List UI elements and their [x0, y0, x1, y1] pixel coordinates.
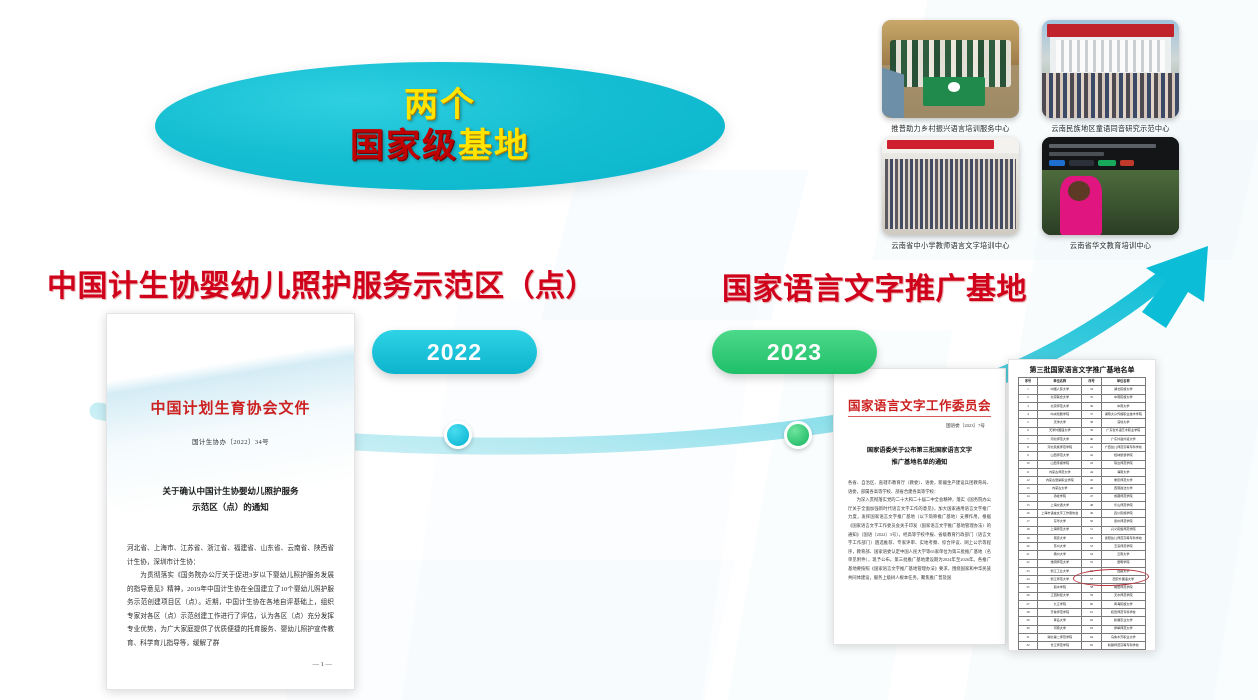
left-doc-code: 国计生协办〔2022〕34号: [107, 436, 354, 446]
table-cell-name: 山西师范大学: [1038, 452, 1082, 460]
section-heading-2: 国家语言文字推广基地: [722, 264, 1027, 308]
table-cell-name: 中央戏剧学院: [1038, 411, 1082, 419]
table-row: 1中国人民大学34湖北民族大学: [1019, 386, 1146, 394]
table-cell-index: 6: [1019, 427, 1038, 435]
table-row: 17东华大学50贵州师范学院: [1019, 518, 1146, 526]
year-badge-2022[interactable]: 2022: [372, 330, 537, 374]
table-cell-name: 青海民族大学: [1101, 600, 1145, 608]
table-cell-name: 伊犁师范大学: [1101, 625, 1145, 633]
table-cell-name: 乐山师范学院: [1101, 501, 1145, 509]
table-cell-index: 27: [1019, 600, 1038, 608]
table-cell-name: 内蒙古大学: [1038, 485, 1082, 493]
right-doc-addressee: 各省、自治区、直辖市教育厅（教委）、语委，新疆生产建设兵团教育局、语委，部属各高…: [848, 480, 991, 494]
photo-thumbnail-1[interactable]: [882, 20, 1019, 118]
photo-thumbnail-4[interactable]: [1042, 137, 1179, 235]
table-cell-name: 北京师范大学: [1038, 402, 1082, 410]
table-cell-name: 赤峰学院: [1038, 493, 1082, 501]
table-cell-name: 四川民族学院: [1101, 510, 1145, 518]
photo-thumbnail-3[interactable]: [882, 137, 1019, 235]
hero-title-line1: 两个: [404, 85, 476, 126]
name-list-table: 序号单位名称序号单位名称 1中国人民大学34湖北民族大学2北京联合大学35中南民…: [1018, 377, 1146, 651]
table-row: 3北京师范大学36中南大学: [1019, 402, 1146, 410]
table-cell-index: 15: [1019, 501, 1038, 509]
right-doc-subject-line1: 国家语委关于公布第三批国家语言文字: [867, 447, 972, 454]
table-cell-index: 62: [1082, 617, 1101, 625]
table-cell-name: 乌鲁木齐职业大学: [1101, 633, 1145, 641]
table-cell-name: 河北师范大学: [1038, 435, 1082, 443]
table-cell-index: 48: [1082, 501, 1101, 509]
table-cell-name: 南京大学: [1038, 534, 1082, 542]
table-cell-index: 20: [1019, 543, 1038, 551]
table-cell-index: 28: [1019, 609, 1038, 617]
table-cell-name: 苏州大学: [1038, 543, 1082, 551]
photo-caption-1: 推普助力乡村振兴语言培训服务中心: [882, 124, 1019, 134]
table-cell-index: 34: [1082, 386, 1101, 394]
document-image-left[interactable]: 中国计划生育协会文件 国计生协办〔2022〕34号 关于确认中国计生协婴幼儿照护…: [106, 313, 355, 690]
table-cell-name: 江西财经大学: [1038, 592, 1082, 600]
left-doc-page-number: — 1 —: [313, 661, 333, 668]
left-doc-subject: 关于确认中国计生协婴幼儿照护服务 示范区（点）的通知: [131, 484, 330, 515]
table-cell-index: 31: [1019, 633, 1038, 641]
table-cell-name: 深圳大学: [1101, 419, 1145, 427]
table-cell-index: 37: [1082, 411, 1101, 419]
name-list-image[interactable]: 第三批国家语言文字推广基地名单 序号单位名称序号单位名称 1中国人民大学34湖北…: [1008, 359, 1156, 651]
photo-caption-2: 云南民族地区童语同音研究示范中心: [1042, 124, 1179, 134]
photo-caption-3: 云南省中小学教师语言文字培训中心: [882, 241, 1019, 251]
table-row: 13内蒙古大学46西南政法大学: [1019, 485, 1146, 493]
table-cell-index: 7: [1019, 435, 1038, 443]
table-cell-index: 18: [1019, 526, 1038, 534]
hero-title-line2-red: 国家级: [350, 127, 458, 165]
left-doc-paragraph: 为贯彻落实《国务院办公厅关于促进3岁以下婴幼儿照护服务发展的指导意见》精神，20…: [127, 569, 334, 650]
table-cell-name: 湖北民族大学: [1101, 386, 1145, 394]
table-cell-index: 35: [1082, 394, 1101, 402]
table-cell-index: 43: [1082, 460, 1101, 468]
photo-card-3[interactable]: 云南省中小学教师语言文字培训中心: [882, 137, 1019, 251]
table-cell-name: 成都师范学院: [1101, 493, 1145, 501]
table-row: 32长江师范学院65新疆师范高等专科学校: [1019, 642, 1146, 650]
table-cell-name: 湖南大众传媒职业技术学院: [1101, 411, 1145, 419]
table-row: 26江西财经大学59天水师范学院: [1019, 592, 1146, 600]
right-doc-title: 国家语言文字工作委员会: [834, 395, 1005, 414]
table-row: 12内蒙古警察职业学院45重庆师范大学: [1019, 477, 1146, 485]
table-cell-index: 21: [1019, 551, 1038, 559]
table-cell-name: 西南政法大学: [1101, 485, 1145, 493]
table-cell-index: 36: [1082, 402, 1101, 410]
photo-card-2[interactable]: 云南民族地区童语同音研究示范中心: [1042, 20, 1179, 134]
table-cell-index: 33: [1019, 650, 1038, 651]
right-doc-code: 国语委〔2023〕7号: [946, 423, 985, 429]
table-row: 11内蒙古师范大学44海南大学: [1019, 468, 1146, 476]
table-row: 29青岛大学62新疆农业大学: [1019, 617, 1146, 625]
table-column-header-3: 单位名称: [1101, 378, 1145, 386]
table-cell-index: 54: [1082, 551, 1101, 559]
table-cell-index: 55: [1082, 559, 1101, 567]
table-row: 27九江学院60青海民族大学: [1019, 600, 1146, 608]
timeline-node-2023[interactable]: [784, 421, 812, 449]
table-cell-index: 17: [1019, 518, 1038, 526]
right-doc-body: 各省、自治区、直辖市教育厅（教委）、语委，新疆生产建设兵团教育局、语委，部属各高…: [848, 479, 991, 582]
table-cell-name: 内蒙古警察职业学院: [1038, 477, 1082, 485]
table-row: 15上海交通大学48乐山师范学院: [1019, 501, 1146, 509]
table-cell-index: 52: [1082, 534, 1101, 542]
table-row: 30河南大学63伊犁师范大学: [1019, 625, 1146, 633]
table-cell-index: 32: [1019, 642, 1038, 650]
document-image-right[interactable]: 国家语言文字工作委员会 国语委〔2023〕7号 国家语委关于公布第三批国家语言文…: [833, 368, 1006, 645]
table-cell-name: 淮阴师范大学: [1038, 559, 1082, 567]
table-cell-index: 2: [1019, 394, 1038, 402]
table-cell-index: 53: [1082, 543, 1101, 551]
table-cell-name: 内蒙古师范大学: [1038, 468, 1082, 476]
table-cell-name: 天津大学: [1038, 419, 1082, 427]
photo-card-4[interactable]: 云南省华文教育培训中心: [1042, 137, 1179, 251]
table-cell-index: 29: [1019, 617, 1038, 625]
table-cell-index: 59: [1082, 592, 1101, 600]
table-cell-index: 24: [1019, 576, 1038, 584]
table-cell-name: 和田师范专科学校: [1101, 609, 1145, 617]
table-cell-name: 九江学院: [1038, 600, 1082, 608]
year-badge-2023[interactable]: 2023: [712, 330, 877, 374]
table-cell-name: 新疆师范高等专科学校: [1101, 642, 1145, 650]
table-column-header-2: 序号: [1082, 378, 1101, 386]
table-cell-index: 1: [1019, 386, 1038, 394]
table-row: 31湖北第二师范学院64乌鲁木齐职业大学: [1019, 633, 1146, 641]
name-list-title: 第三批国家语言文字推广基地名单: [1009, 365, 1155, 375]
table-cell-index: 39: [1082, 427, 1101, 435]
table-cell-index: 25: [1019, 584, 1038, 592]
table-cell-index: 64: [1082, 633, 1101, 641]
photo-card-1[interactable]: 推普助力乡村振兴语言培训服务中心: [882, 20, 1019, 134]
table-cell-name: 玉溪师范学院: [1101, 543, 1145, 551]
table-cell-index: 19: [1019, 534, 1038, 542]
table-cell-index: 22: [1019, 559, 1038, 567]
table-column-header-0: 序号: [1019, 378, 1038, 386]
table-row: 9山西师范大学42桂林旅游学院: [1019, 452, 1146, 460]
table-cell-index: [1082, 650, 1101, 651]
left-doc-subject-line1: 关于确认中国计生协婴幼儿照护服务: [162, 486, 298, 496]
table-row: 8河北民族师范学院41广西幼儿师范高等专科学校: [1019, 444, 1146, 452]
table-cell-name: 上海师范大学: [1038, 526, 1082, 534]
table-row: 20苏州大学53玉溪师范学院: [1019, 543, 1146, 551]
table-cell-name: 湖北第二师范学院: [1038, 633, 1082, 641]
table-cell-name: 长江师范学院: [1038, 642, 1082, 650]
table-row: 5天津大学38深圳大学: [1019, 419, 1146, 427]
table-cell-index: 42: [1082, 452, 1101, 460]
table-row: 33中南财经政法大学: [1019, 650, 1146, 651]
table-row: 4中央戏剧学院37湖南大众传媒职业技术学院: [1019, 411, 1146, 419]
table-row: 16上海市语言文字工作者协会49四川民族学院: [1019, 510, 1146, 518]
table-cell-name: 中南大学: [1101, 402, 1145, 410]
photo-caption-4: 云南省华文教育培训中心: [1042, 241, 1179, 251]
table-cell-name: 琼台师范学院: [1101, 460, 1145, 468]
table-column-header-1: 单位名称: [1038, 378, 1082, 386]
table-cell-name: 青岛大学: [1038, 617, 1082, 625]
table-cell-index: 49: [1082, 510, 1101, 518]
table-cell-index: 47: [1082, 493, 1101, 501]
table-cell-name: 天津外国语大学: [1038, 427, 1082, 435]
table-cell-index: 45: [1082, 477, 1101, 485]
table-cell-name: 贵州师范学院: [1101, 518, 1145, 526]
table-cell-name: 丽水学院: [1038, 584, 1082, 592]
table-cell-name: 广西幼儿师范高等专科学校: [1101, 444, 1145, 452]
table-header-row: 序号单位名称序号单位名称: [1019, 378, 1146, 386]
table-cell-name: [1101, 650, 1145, 651]
right-doc-subject: 国家语委关于公布第三批国家语言文字 推广基地名单的通知: [850, 445, 989, 469]
left-doc-subject-line2: 示范区（点）的通知: [192, 502, 269, 512]
timeline-node-2022[interactable]: [444, 421, 472, 449]
table-cell-name: 云南大学: [1101, 551, 1145, 559]
table-cell-index: 4: [1019, 411, 1038, 419]
table-cell-name: 贵阳幼儿师范高等专科学校: [1101, 534, 1145, 542]
table-cell-name: 河南大学: [1038, 625, 1082, 633]
table-cell-index: 41: [1082, 444, 1101, 452]
table-cell-index: 50: [1082, 518, 1101, 526]
table-cell-index: 23: [1019, 567, 1038, 575]
table-cell-index: 61: [1082, 609, 1101, 617]
table-cell-index: 44: [1082, 468, 1101, 476]
table-cell-name: 上海市语言文字工作者协会: [1038, 510, 1082, 518]
table-cell-name: 北京联合大学: [1038, 394, 1082, 402]
table-cell-name: 山西传媒学院: [1038, 460, 1082, 468]
table-cell-name: 重庆师范大学: [1101, 477, 1145, 485]
table-cell-name: 兴义民族师范学院: [1101, 526, 1145, 534]
left-doc-addressee: 河北省、上海市、江苏省、浙江省、福建省、山东省、云南省、陕西省计生协，深圳市计生…: [127, 545, 334, 566]
table-cell-name: 中南民族大学: [1101, 394, 1145, 402]
table-row: 7河北师范大学40广东外语外贸大学: [1019, 435, 1146, 443]
table-row: 6天津外国语大学39广东省外语艺术职业学院: [1019, 427, 1146, 435]
table-cell-name: 河北民族师范学院: [1038, 444, 1082, 452]
hero-title-line2: 国家级基地: [350, 126, 530, 167]
table-cell-index: 30: [1019, 625, 1038, 633]
table-cell-index: 16: [1019, 510, 1038, 518]
table-cell-index: 9: [1019, 452, 1038, 460]
table-cell-index: 26: [1019, 592, 1038, 600]
table-cell-name: 扬州大学: [1038, 551, 1082, 559]
table-cell-name: 广东外语外贸大学: [1101, 435, 1145, 443]
table-row: 28齐鲁师范学院61和田师范专科学校: [1019, 609, 1146, 617]
right-doc-divider: [848, 416, 991, 417]
table-cell-index: 38: [1082, 419, 1101, 427]
table-cell-name: 天水师范学院: [1101, 592, 1145, 600]
table-row: 10山西传媒学院43琼台师范学院: [1019, 460, 1146, 468]
table-cell-index: 65: [1082, 642, 1101, 650]
table-cell-name: 海南大学: [1101, 468, 1145, 476]
table-cell-index: 3: [1019, 402, 1038, 410]
table-cell-name: 上海交通大学: [1038, 501, 1082, 509]
hero-title: 两个 国家级基地: [155, 62, 725, 190]
table-cell-name: 新疆农业大学: [1101, 617, 1145, 625]
table-cell-index: 12: [1019, 477, 1038, 485]
table-row: 21扬州大学54云南大学: [1019, 551, 1146, 559]
photo-thumbnail-2[interactable]: [1042, 20, 1179, 118]
table-cell-index: 5: [1019, 419, 1038, 427]
slide-canvas: 两个 国家级基地 中国计生协婴幼儿照护服务示范区（点） 国家语言文字推广基地 2…: [0, 0, 1258, 700]
photo-grid: 推普助力乡村振兴语言培训服务中心 云南民族地区童语同音研究示范中心 云南省中小学…: [882, 20, 1192, 260]
table-cell-name: 中南财经政法大学: [1038, 650, 1082, 651]
table-row: 2北京联合大学35中南民族大学: [1019, 394, 1146, 402]
table-cell-index: 11: [1019, 468, 1038, 476]
section-heading-1: 中国计生协婴幼儿照护服务示范区（点）: [47, 261, 596, 305]
table-cell-name: 齐鲁师范学院: [1038, 609, 1082, 617]
table-cell-name: 广东省外语艺术职业学院: [1101, 427, 1145, 435]
table-cell-index: 40: [1082, 435, 1101, 443]
table-cell-index: 63: [1082, 625, 1101, 633]
table-cell-index: 60: [1082, 600, 1101, 608]
table-cell-index: 10: [1019, 460, 1038, 468]
left-doc-title: 中国计划生育协会文件: [107, 397, 354, 418]
right-doc-paragraph: 为深入贯彻落实党的二十大和二十届二中全会精神，落实《国务院办公厅关于全面加强新时…: [848, 496, 991, 582]
table-row: 25丽水学院58咸阳师范学院: [1019, 584, 1146, 592]
table-cell-name: 中国人民大学: [1038, 386, 1082, 394]
table-row: 18上海师范大学51兴义民族师范学院: [1019, 526, 1146, 534]
table-cell-name: 东华大学: [1038, 518, 1082, 526]
table-cell-index: 46: [1082, 485, 1101, 493]
table-cell-index: 8: [1019, 444, 1038, 452]
table-cell-name: 桂林旅游学院: [1101, 452, 1145, 460]
table-cell-index: 13: [1019, 485, 1038, 493]
left-doc-body: 河北省、上海市、江苏省、浙江省、福建省、山东省、云南省、陕西省计生协，深圳市计生…: [127, 542, 334, 650]
table-row: 19南京大学52贵阳幼儿师范高等专科学校: [1019, 534, 1146, 542]
table-row: 22淮阴师范大学55昆明学院: [1019, 559, 1146, 567]
table-cell-name: 昆明学院: [1101, 559, 1145, 567]
table-row: 14赤峰学院47成都师范学院: [1019, 493, 1146, 501]
table-cell-index: 51: [1082, 526, 1101, 534]
table-cell-index: 14: [1019, 493, 1038, 501]
hero-title-line2-yellow: 基地: [458, 127, 530, 165]
right-doc-subject-line2: 推广基地名单的通知: [892, 459, 948, 466]
